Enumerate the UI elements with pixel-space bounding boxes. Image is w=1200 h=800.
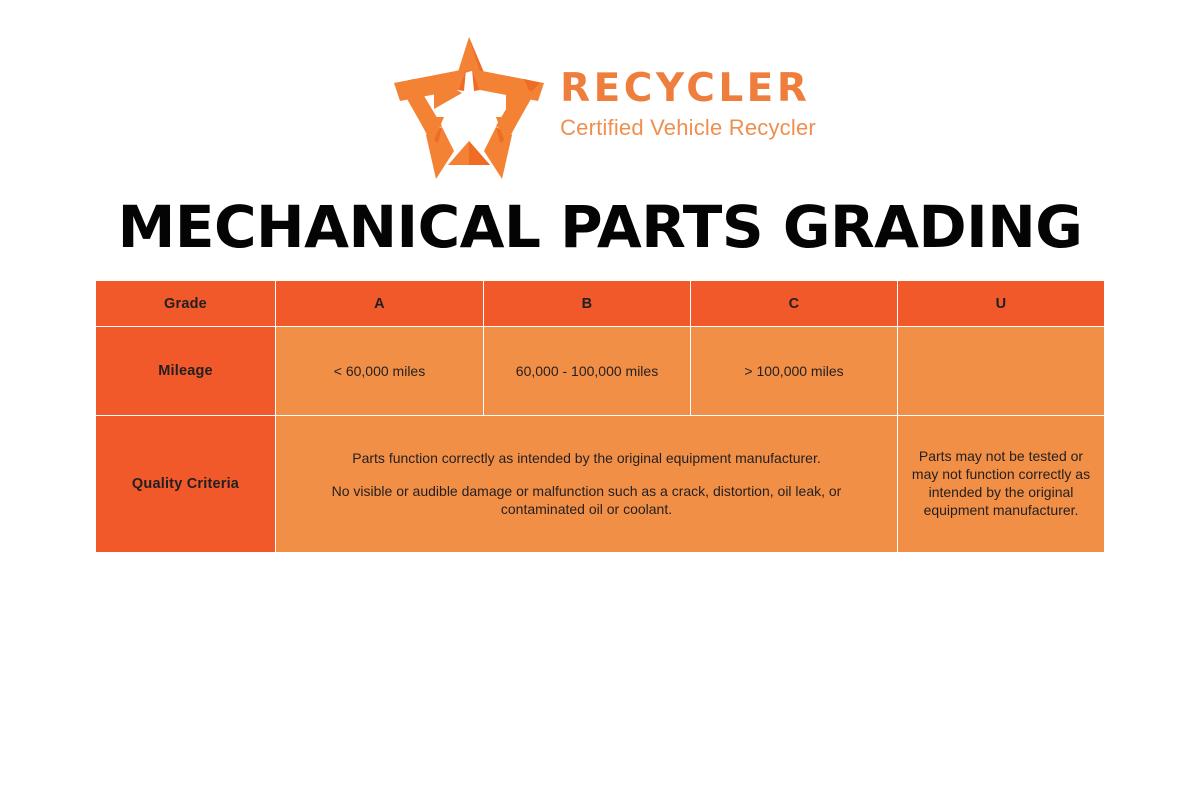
grading-table: Grade A B C U Mileage < 60,000 miles 60,…: [95, 280, 1105, 553]
row-label-quality-criteria: Quality Criteria: [96, 416, 276, 553]
quality-abc-line2: No visible or audible damage or malfunct…: [294, 483, 879, 517]
quality-abc-line1: Parts function correctly as intended by …: [294, 450, 879, 467]
header-cell-c: C: [691, 281, 898, 327]
grading-sheet-page: RECYCLER Certified Vehicle Recycler MECH…: [0, 0, 1200, 800]
logo-text-group: RECYCLER Certified Vehicle Recycler: [560, 69, 816, 147]
quality-abc-text: Parts function correctly as intended by …: [276, 450, 897, 517]
recycling-star-icon: [384, 31, 554, 186]
logo-wordmark: RECYCLER: [560, 69, 810, 110]
cell-mileage-c: > 100,000 miles: [691, 327, 898, 416]
logo-tagline: Certified Vehicle Recycler: [560, 114, 816, 143]
quality-u-line: Parts may not be tested or may not funct…: [908, 448, 1094, 520]
logo-inner: RECYCLER Certified Vehicle Recycler: [384, 31, 816, 186]
header-cell-a: A: [276, 281, 484, 327]
quality-u-text: Parts may not be tested or may not funct…: [898, 448, 1104, 520]
header-cell-u: U: [898, 281, 1105, 327]
header-cell-b: B: [484, 281, 691, 327]
row-label-mileage: Mileage: [96, 327, 276, 416]
table-row-mileage: Mileage < 60,000 miles 60,000 - 100,000 …: [96, 327, 1105, 416]
table-header-row: Grade A B C U: [96, 281, 1105, 327]
page-title: MECHANICAL PARTS GRADING: [0, 196, 1200, 260]
table-row-quality-criteria: Quality Criteria Parts function correctl…: [96, 416, 1105, 553]
header-cell-grade: Grade: [96, 281, 276, 327]
cell-quality-abc: Parts function correctly as intended by …: [276, 416, 898, 553]
cell-mileage-u: [898, 327, 1105, 416]
cell-mileage-a: < 60,000 miles: [276, 327, 484, 416]
cell-mileage-b: 60,000 - 100,000 miles: [484, 327, 691, 416]
brand-logo: RECYCLER Certified Vehicle Recycler: [0, 28, 1200, 188]
cell-quality-u: Parts may not be tested or may not funct…: [898, 416, 1105, 553]
